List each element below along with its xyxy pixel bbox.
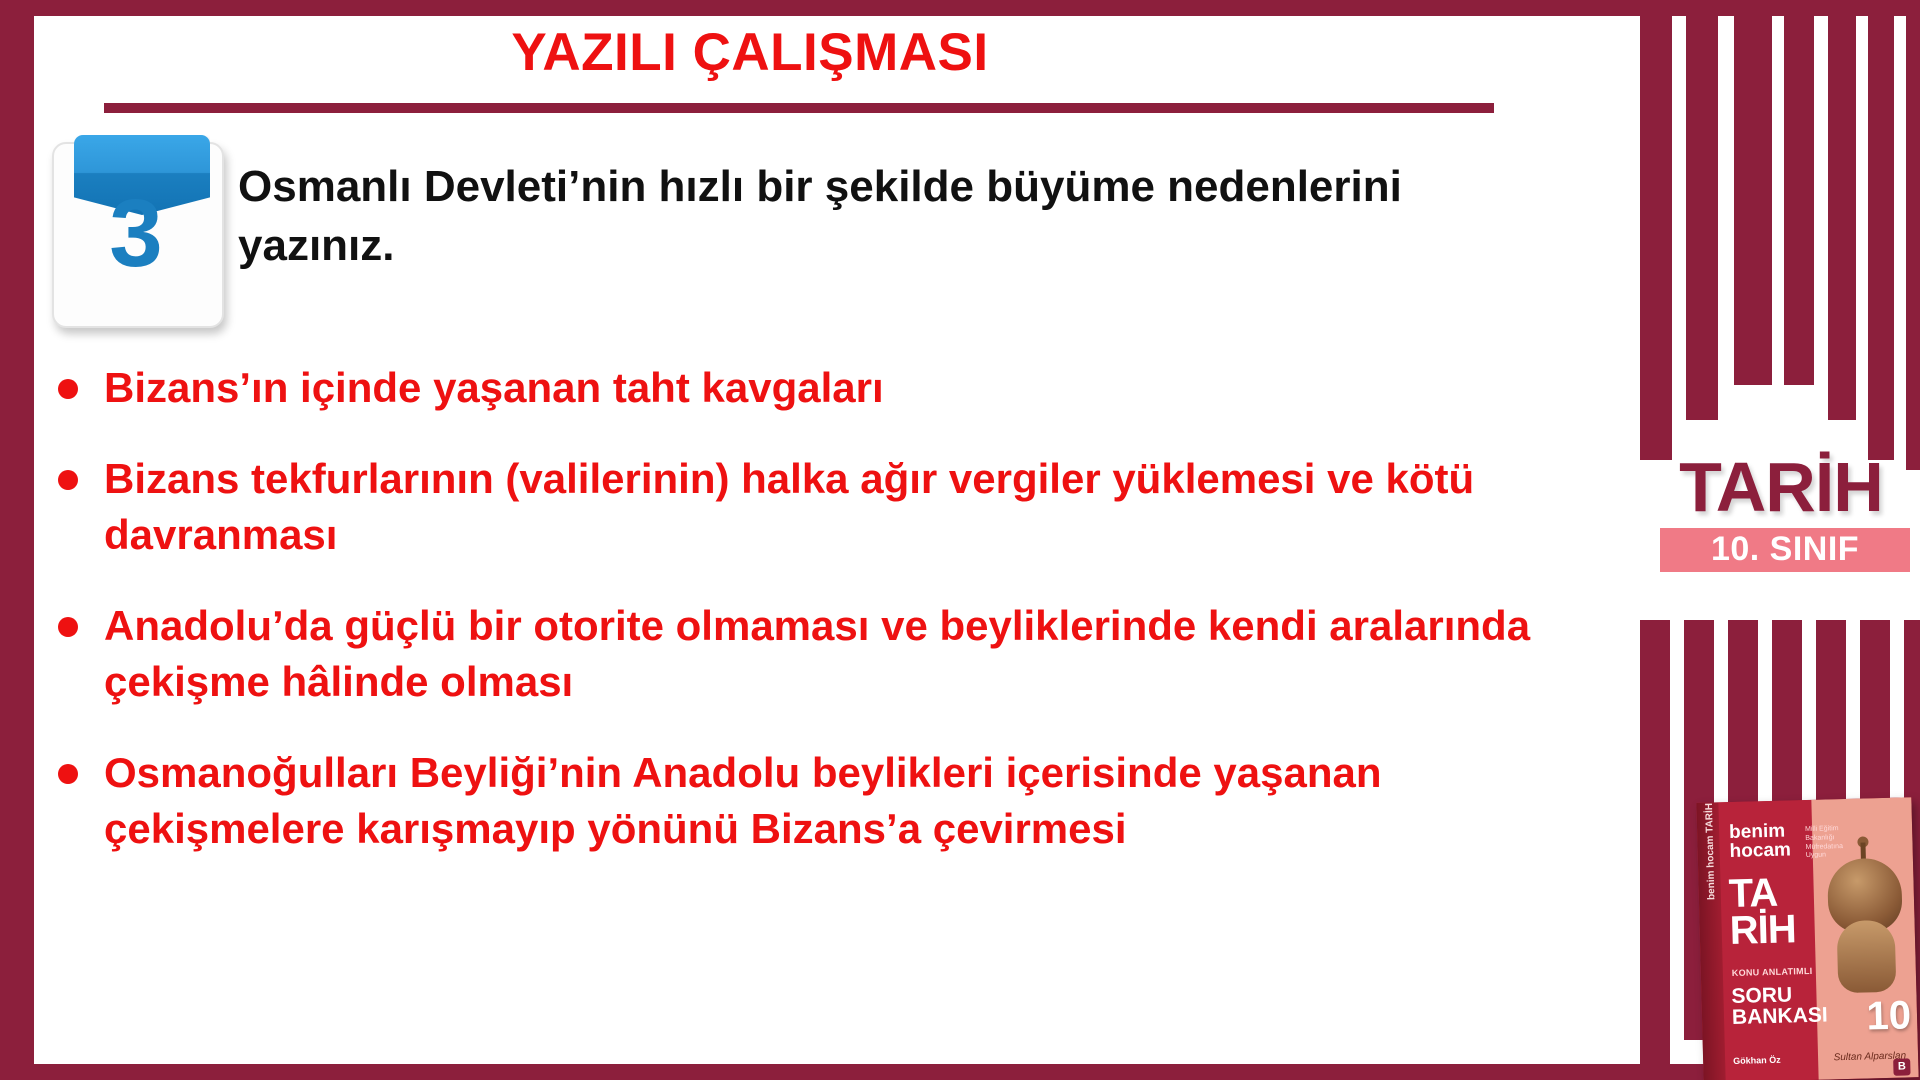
bullet-icon xyxy=(58,470,78,490)
bullet-icon xyxy=(58,764,78,784)
book-subtitle: Milli Eğitim Bakanlığı Müfredatına Uygun xyxy=(1805,825,1848,861)
bar-stripe xyxy=(1734,0,1772,385)
list-item: Bizans tekfurlarının (valilerinin) halka… xyxy=(52,451,1612,562)
bar-stripe xyxy=(1868,0,1894,460)
book-title: TA RİH xyxy=(1728,874,1796,949)
book-grade-number: 10 xyxy=(1866,995,1912,1036)
bar-stripe xyxy=(1828,0,1856,420)
book-author-name: Gökhan Öz xyxy=(1733,1055,1781,1066)
page-title: YAZILI ÇALIŞMASI xyxy=(100,22,1400,83)
publisher-mark-icon: B xyxy=(1893,1058,1910,1075)
answer-text: Bizans’ın içinde yaşanan taht kavgaları xyxy=(104,364,884,411)
list-item: Anadolu’da güçlü bir otorite olmaması ve… xyxy=(52,598,1612,709)
question-number-value: 3 xyxy=(52,186,220,282)
frame-border-left xyxy=(0,0,34,1080)
book-spine-text: benim hocam TARİH xyxy=(1704,808,1717,900)
bar-stripe xyxy=(1784,0,1814,385)
grade-badge: 10. SINIF xyxy=(1660,528,1910,572)
book-cover-image: benim hocam TARİH benim hocam Milli Eğit… xyxy=(1696,797,1918,1080)
slide-canvas: YAZILI ÇALIŞMASI 3 Osmanlı Devleti’nin h… xyxy=(0,0,1920,1080)
book-brand-line-2: hocam xyxy=(1729,841,1791,861)
logo-title: TARİH xyxy=(1636,452,1920,522)
bar-stripe xyxy=(1906,0,1920,470)
bar-stripe xyxy=(1686,0,1718,420)
book-konu-label: KONU ANLATIMLI xyxy=(1732,966,1813,978)
answer-list: Bizans’ın içinde yaşanan taht kavgaları … xyxy=(52,360,1612,892)
book-soru-line-2: BANKASI xyxy=(1732,1005,1828,1029)
frame-border-top xyxy=(0,0,1920,16)
title-underline-rule xyxy=(104,103,1494,113)
decorative-bars-top xyxy=(1640,0,1920,470)
bar-stripe xyxy=(1640,620,1670,1080)
bullet-icon xyxy=(58,379,78,399)
answer-text: Osmanoğulları Beyliği’nin Anadolu beylik… xyxy=(104,749,1382,851)
list-item: Osmanoğulları Beyliği’nin Anadolu beylik… xyxy=(52,745,1612,856)
book-soru-bankasi-label: SORU BANKASI xyxy=(1731,984,1828,1029)
bullet-icon xyxy=(58,617,78,637)
book-brand-logo: benim hocam xyxy=(1729,822,1791,861)
answer-text: Anadolu’da güçlü bir otorite olmaması ve… xyxy=(104,602,1530,704)
answer-text: Bizans tekfurlarının (valilerinin) halka… xyxy=(104,455,1474,557)
frame-border-bottom xyxy=(0,1064,1920,1080)
list-item: Bizans’ın içinde yaşanan taht kavgaları xyxy=(52,360,1612,415)
book-title-line-2: RİH xyxy=(1729,911,1796,950)
question-text: Osmanlı Devleti’nin hızlı bir şekilde bü… xyxy=(238,158,1418,275)
sultan-face-illustration xyxy=(1837,920,1897,993)
bar-stripe xyxy=(1640,0,1672,460)
